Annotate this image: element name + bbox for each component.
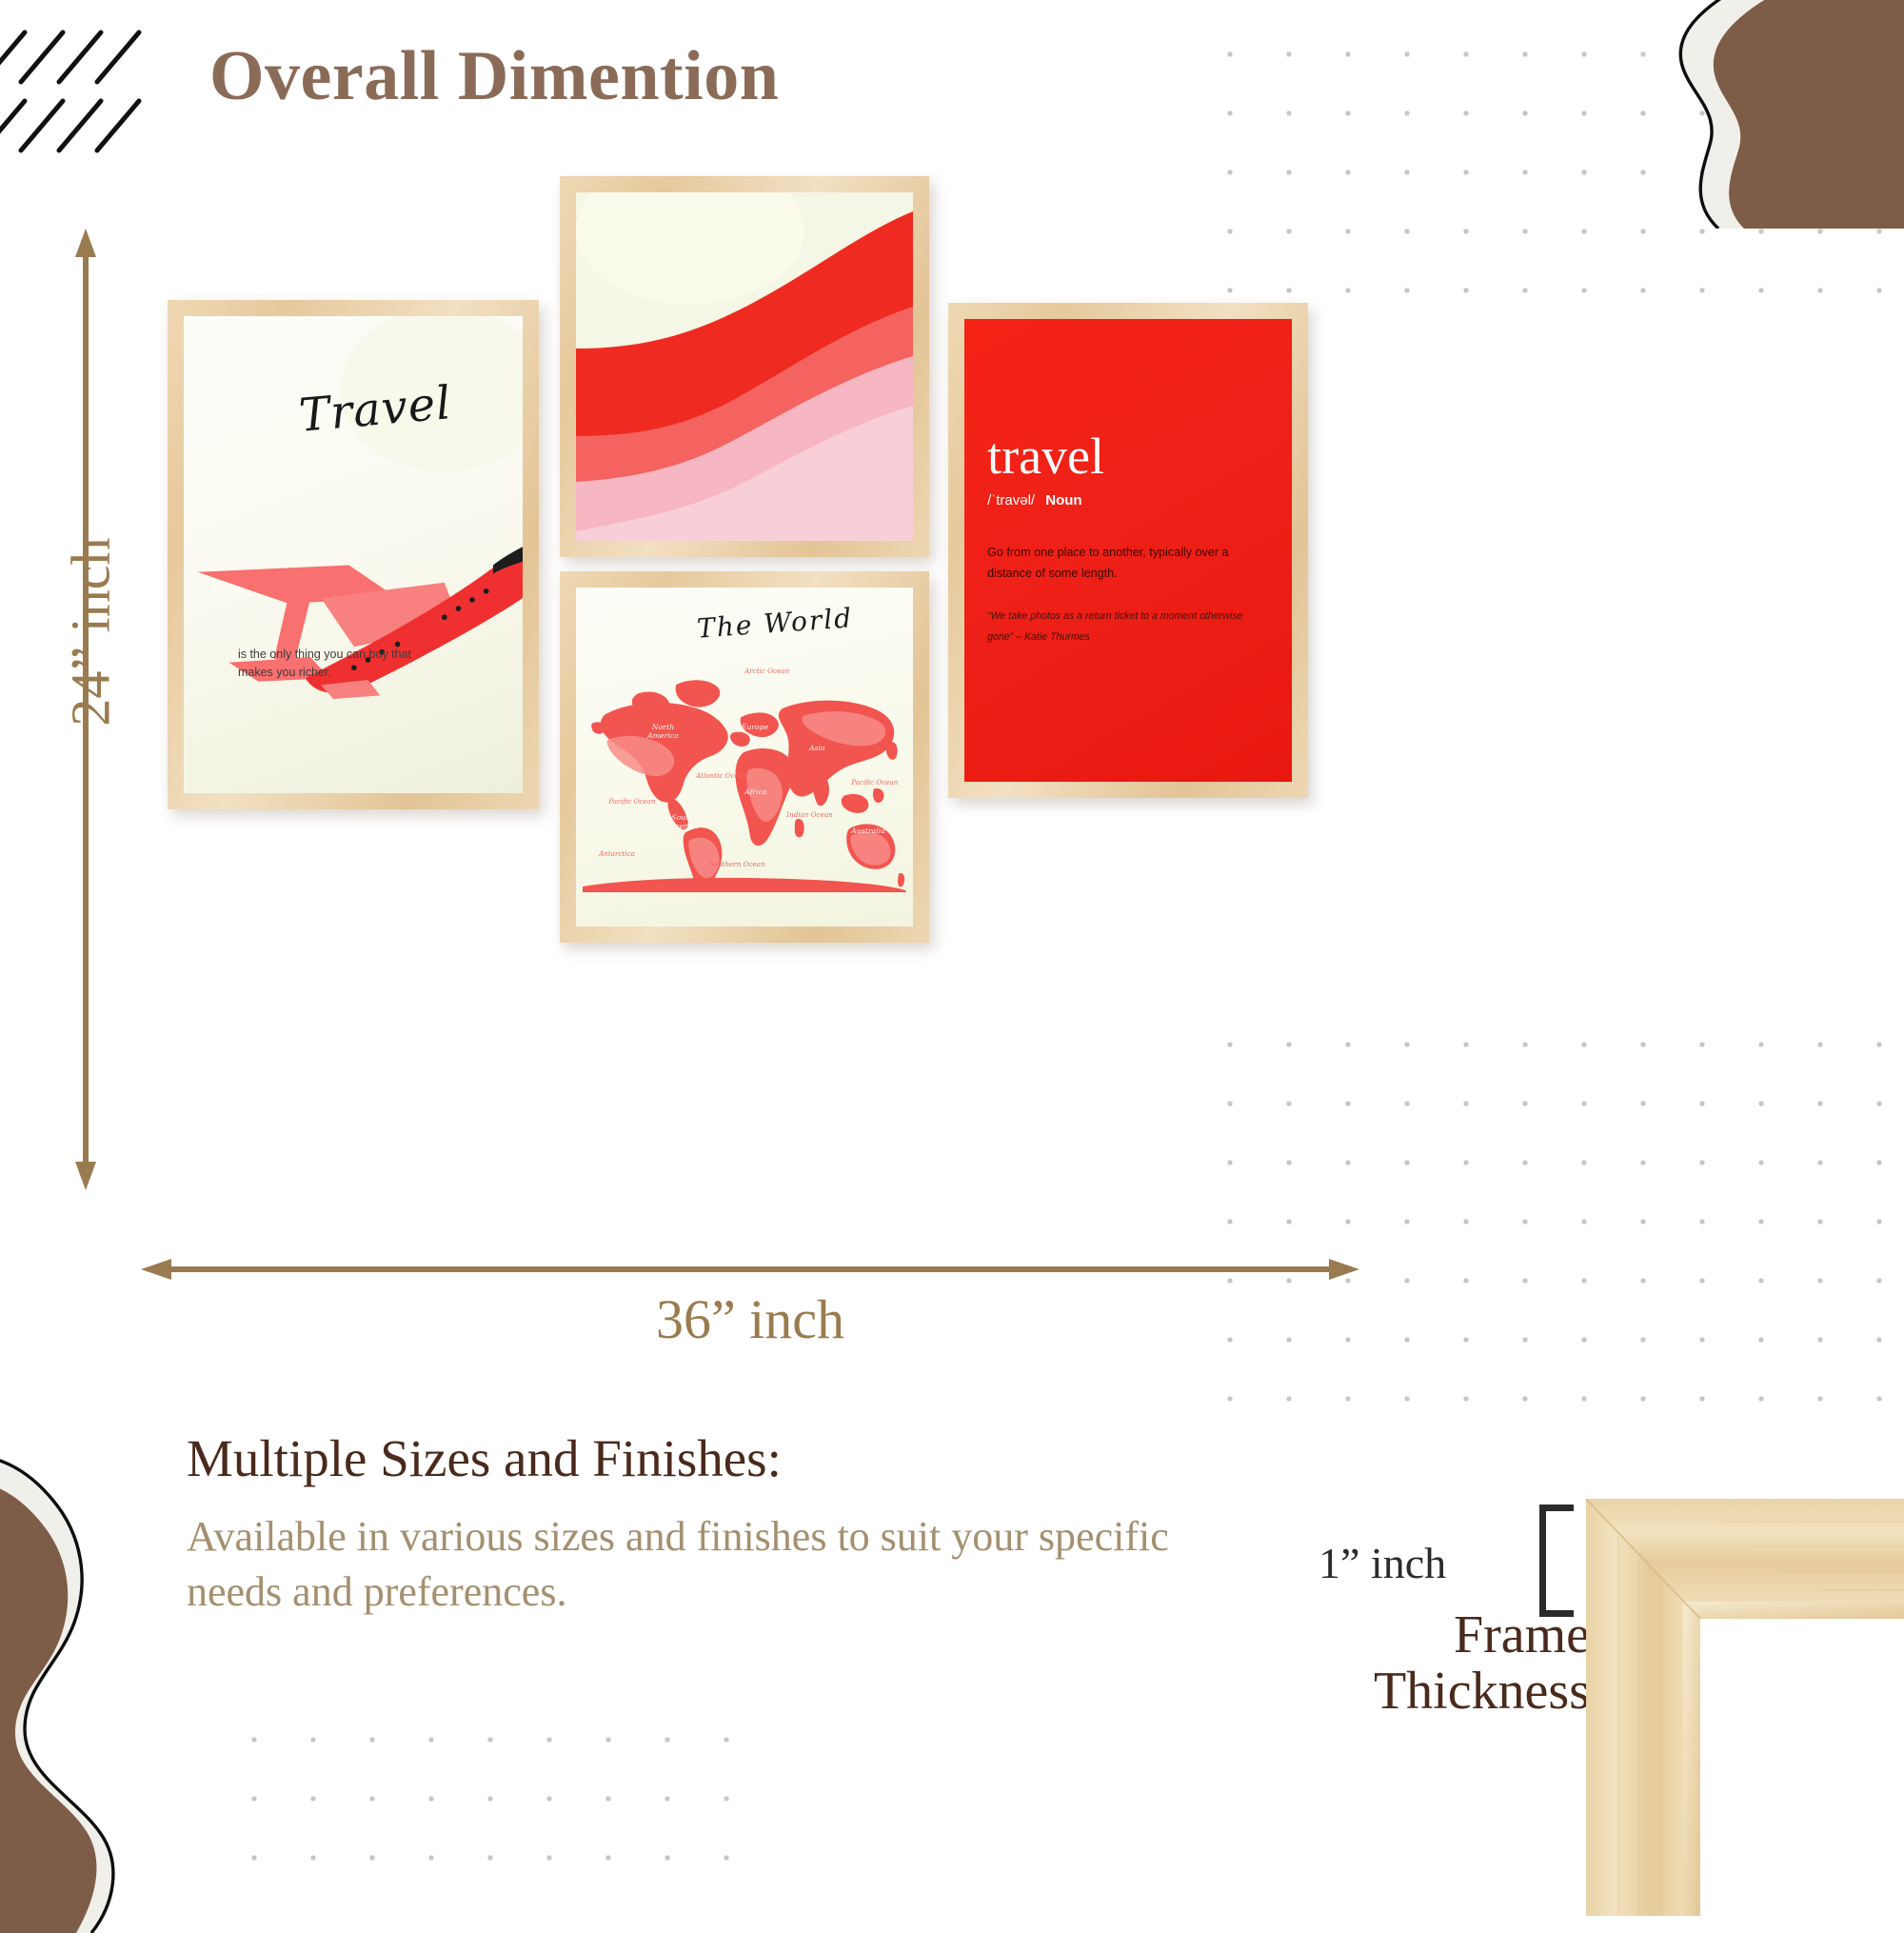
map-label: SouthAmerica [666, 814, 698, 831]
features-body: Available in various sizes and finishes … [187, 1509, 1196, 1620]
poster-frame-world-map[interactable]: The World [560, 571, 929, 943]
width-dimension-label: 36” inch [141, 1287, 1359, 1351]
diagonal-hatch-lines-icon [0, 27, 209, 160]
map-label: Australia [851, 827, 885, 836]
width-dimension-arrow [141, 1255, 1359, 1284]
height-dimension-label: 24” inch [59, 513, 123, 751]
definition-quote: “We take photos as a return ticket to a … [987, 607, 1269, 648]
abstract-wave-shapes-icon [576, 192, 913, 541]
poster-frame-travel-plane[interactable]: Travel is the only thing you can buy tha… [168, 300, 539, 809]
travel-plane-caption: is the only thing you can buy that makes… [238, 646, 448, 683]
abstract-waves-artwork [576, 192, 913, 541]
definition-phonetic-row: /ˈtravəl/ Noun [987, 492, 1269, 508]
world-map-artwork: The World [576, 588, 913, 927]
thickness-title-line1: Frame [1180, 1607, 1590, 1664]
world-map-script-text: The World [696, 603, 854, 645]
frame-bevel: The World [576, 588, 913, 927]
map-label: Antarctica [599, 849, 635, 858]
definition-word: travel [987, 430, 1269, 482]
definition-part-of-speech: Noun [1045, 492, 1081, 508]
map-label: Atlantic Ocean [696, 771, 747, 780]
brown-blob-top-right [1523, 0, 1904, 229]
dot-grid-bottom-left [219, 1704, 752, 1866]
map-label: Africa [744, 788, 767, 797]
frame-bevel [576, 192, 913, 541]
map-label: Arctic Ocean [744, 667, 789, 675]
frame-bevel: Travel is the only thing you can buy tha… [184, 316, 523, 793]
thickness-title-line2: Thickness [1180, 1664, 1590, 1720]
poster-frame-travel-definition[interactable]: travel /ˈtravəl/ Noun Go from one place … [948, 303, 1308, 798]
map-label: Indian Ocean [786, 810, 833, 819]
thickness-bracket [1539, 1505, 1574, 1617]
wood-frame-corner-photo [1580, 1497, 1904, 1916]
page-title: Overall Dimention [209, 36, 779, 117]
map-label: NorthAmerica [647, 724, 679, 741]
map-label: Asia [809, 745, 825, 753]
thickness-measure-label: 1” inch [1319, 1538, 1446, 1588]
poster-frame-abstract-waves[interactable] [560, 176, 929, 557]
map-label: Southern Ocean [709, 860, 765, 868]
map-label: Europe [742, 724, 769, 732]
travel-definition-artwork: travel /ˈtravəl/ Noun Go from one place … [964, 319, 1292, 782]
frame-bevel: travel /ˈtravəl/ Noun Go from one place … [964, 319, 1292, 782]
features-heading: Multiple Sizes and Finishes: [187, 1428, 782, 1488]
definition-phonetic: /ˈtravəl/ [987, 492, 1035, 508]
thickness-title: Frame Thickness [1180, 1607, 1590, 1720]
travel-plane-artwork: Travel is the only thing you can buy tha… [184, 316, 523, 793]
map-label: Pacific Ocean [851, 778, 898, 787]
world-map-canvas: Arctic OceanNorthAmericaAtlantic OceanPa… [583, 676, 906, 893]
definition-body: Go from one place to another, typically … [987, 543, 1269, 584]
map-label: Pacific Ocean [608, 797, 655, 806]
